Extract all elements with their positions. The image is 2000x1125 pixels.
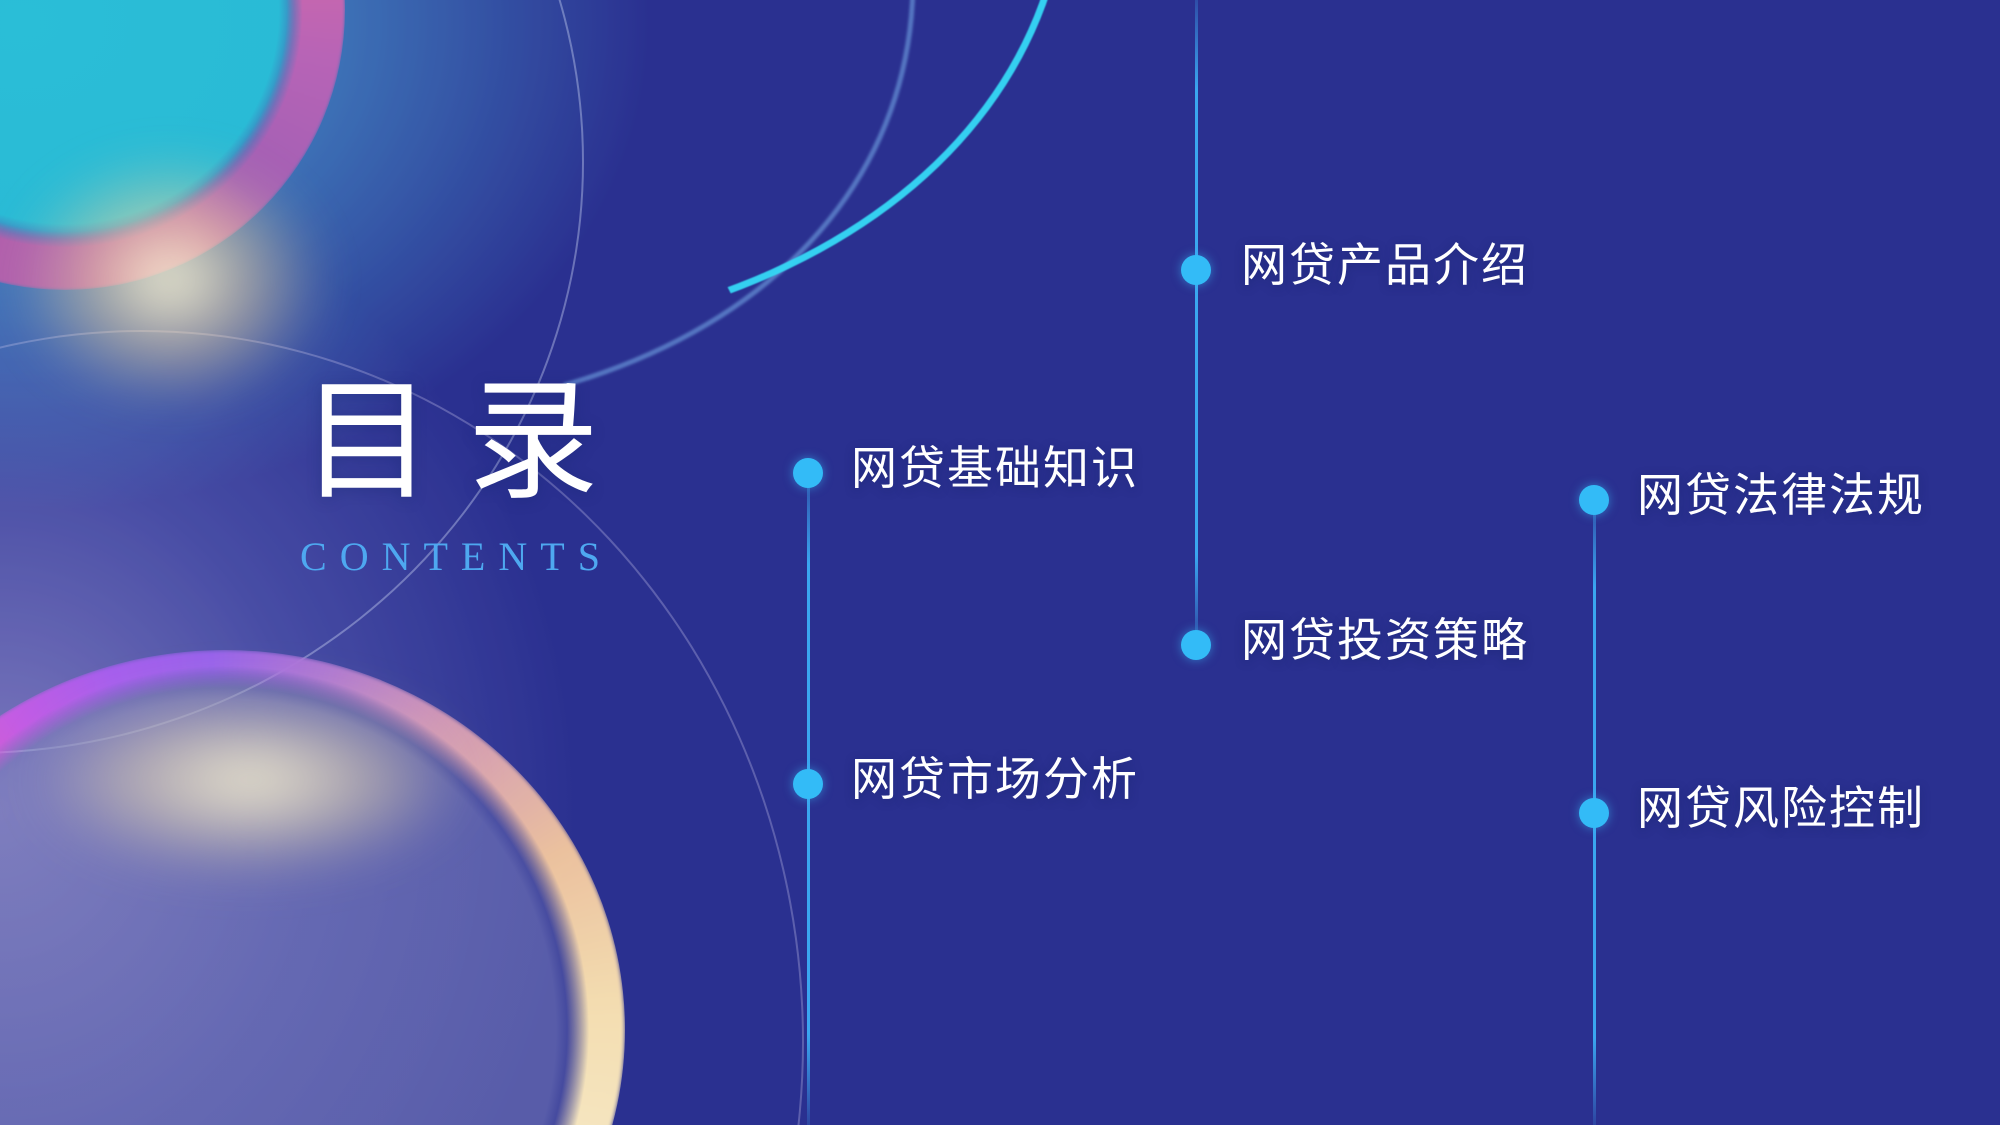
contents-item-label[interactable]: 网贷风险控制 [1637, 786, 1925, 832]
contents-item-label[interactable]: 网贷基础知识 [851, 446, 1139, 492]
contents-item-label[interactable]: 网贷投资策略 [1241, 618, 1529, 664]
ring-bottom-left-glow [40, 690, 460, 870]
bullet-dot-icon[interactable] [1181, 630, 1211, 660]
contents-item-label[interactable]: 网贷产品介绍 [1241, 243, 1529, 289]
page-subtitle: CONTENTS [160, 533, 740, 580]
title-block: 目录 CONTENTS [160, 372, 740, 580]
bullet-dot-icon[interactable] [793, 458, 823, 488]
contents-item-label[interactable]: 网贷市场分析 [851, 757, 1139, 803]
bullet-dot-icon[interactable] [1579, 485, 1609, 515]
bullet-dot-icon[interactable] [1181, 255, 1211, 285]
slide-canvas: 目录 CONTENTS 网贷产品介绍网贷基础知识网贷投资策略网贷法律法规网贷市场… [0, 0, 2000, 1125]
page-title: 目录 [160, 372, 740, 515]
bullet-dot-icon[interactable] [1579, 798, 1609, 828]
contents-item-label[interactable]: 网贷法律法规 [1637, 473, 1925, 519]
bullet-dot-icon[interactable] [793, 769, 823, 799]
